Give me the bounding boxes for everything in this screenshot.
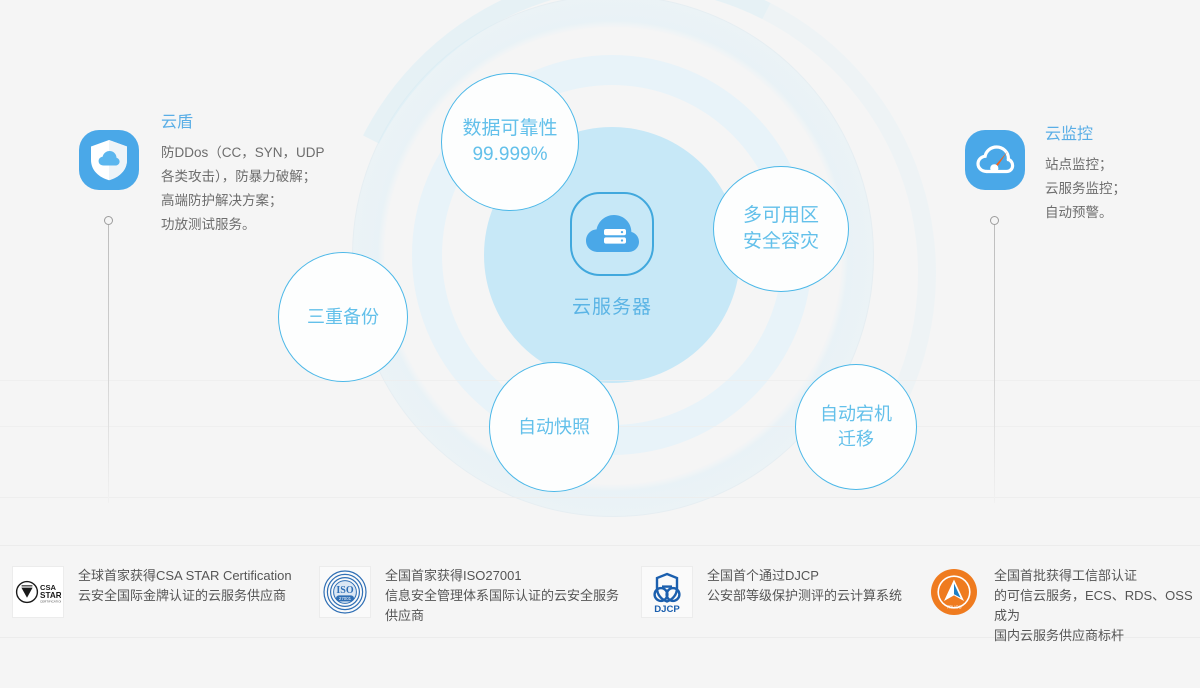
cloud-monitor-text: 云监控 站点监控； 云服务监控； 自动预警。 [1045, 120, 1195, 225]
bubble-migrate-line2: 迁移 [820, 427, 892, 452]
cloud-server-icon [570, 192, 654, 276]
bubble-snapshot[interactable]: 自动快照 [489, 362, 619, 492]
certification-item[interactable]: CSA STAR CERTIFICATION 全球首家获得CSA STAR Ce… [12, 566, 312, 618]
cert-4-line-1: 全国首批获得工信部认证 [994, 566, 1198, 586]
bubble-reliability-line2: 99.999% [462, 142, 557, 168]
certification-item[interactable]: ISO 27001 全国首家获得ISO27001 信息安全管理体系国际认证的云安… [319, 566, 629, 626]
bubble-snapshot-line1: 自动快照 [518, 417, 590, 437]
cloud-shield-icon [79, 130, 139, 190]
csa-star-logo-icon: CSA STAR CERTIFICATION [12, 566, 64, 618]
certification-text: 全国首批获得工信部认证 的可信云服务，ECS、RDS、OSS成为 国内云服务供应… [994, 566, 1198, 647]
svg-text:27001: 27001 [339, 596, 352, 601]
cert-2-line-3: 供应商 [385, 606, 619, 626]
djcp-logo-icon: DJCP [641, 566, 693, 618]
cloud-monitor-block[interactable] [965, 130, 1025, 190]
svg-text:TRUCS: TRUCS [946, 604, 961, 609]
cloud-monitor-icon [965, 130, 1025, 190]
bubble-multizone-line2: 安全容灾 [743, 229, 819, 255]
cloud-shield-line-3: 高端防护解决方案； [161, 189, 391, 213]
bubble-multizone-line1: 多可用区 [743, 205, 819, 226]
iso-27001-logo-icon: ISO 27001 [319, 566, 371, 618]
bubble-backup[interactable]: 三重备份 [278, 252, 408, 382]
cert-4-line-2: 的可信云服务，ECS、RDS、OSS成为 [994, 586, 1198, 626]
guide-line-c [0, 497, 1200, 498]
cloud-shield-block[interactable] [79, 130, 139, 190]
certification-text: 全球首家获得CSA STAR Certification 云安全国际金牌认证的云… [78, 566, 292, 606]
connector-line-right [994, 225, 995, 503]
connector-dot-left [104, 216, 113, 225]
cloud-monitor-line-1: 站点监控； [1045, 153, 1195, 177]
cloud-shield-title: 云盾 [161, 108, 391, 132]
connector-line-left [108, 225, 109, 503]
bubble-reliability[interactable]: 数据可靠性 99.999% [441, 73, 579, 211]
cloud-monitor-title: 云监控 [1045, 120, 1195, 144]
cert-2-line-1: 全国首家获得ISO27001 [385, 566, 619, 586]
connector-dot-right [990, 216, 999, 225]
cloud-shield-line-2: 各类攻击），防暴力破解； [161, 165, 391, 189]
bubble-migrate[interactable]: 自动宕机 迁移 [795, 364, 917, 490]
cert-3-line-1: 全国首个通过DJCP [707, 566, 902, 586]
certification-strip: CSA STAR CERTIFICATION 全球首家获得CSA STAR Ce… [0, 540, 1200, 640]
bubble-multizone[interactable]: 多可用区 安全容灾 [713, 166, 849, 292]
cert-4-line-3: 国内云服务供应商标杆 [994, 626, 1198, 646]
cloud-monitor-body: 站点监控； 云服务监控； 自动预警。 [1045, 153, 1195, 225]
trucs-logo-icon: TRUCS [928, 566, 980, 618]
cloud-shield-text: 云盾 防DDos（CC，SYN，UDP 各类攻击），防暴力破解； 高端防护解决方… [161, 108, 391, 237]
cert-3-line-2: 公安部等级保护测评的云计算系统 [707, 586, 902, 606]
svg-text:DJCP: DJCP [654, 604, 680, 614]
bubble-reliability-line1: 数据可靠性 [462, 118, 557, 139]
svg-text:ISO: ISO [336, 585, 353, 596]
cloud-shield-body: 防DDos（CC，SYN，UDP 各类攻击），防暴力破解； 高端防护解决方案； … [161, 141, 391, 237]
cert-1-line-2: 云安全国际金牌认证的云服务供应商 [78, 586, 292, 606]
svg-text:CERTIFICATION: CERTIFICATION [40, 600, 61, 604]
cert-1-line-1: 全球首家获得CSA STAR Certification [78, 566, 292, 586]
cloud-shield-line-1: 防DDos（CC，SYN，UDP [161, 141, 391, 165]
infographic-canvas: 云服务器 数据可靠性 99.999% 多可用区 安全容灾 三重备份 自动快照 自… [0, 0, 1200, 688]
cloud-monitor-line-3: 自动预警。 [1045, 201, 1195, 225]
cloud-monitor-line-2: 云服务监控； [1045, 177, 1195, 201]
bubble-backup-line1: 三重备份 [307, 307, 379, 327]
cert-2-line-2: 信息安全管理体系国际认证的云安全服务 [385, 586, 619, 606]
cloud-shield-line-4: 功放测试服务。 [161, 213, 391, 237]
certification-item[interactable]: DJCP 全国首个通过DJCP 公安部等级保护测评的云计算系统 [641, 566, 931, 618]
certification-text: 全国首家获得ISO27001 信息安全管理体系国际认证的云安全服务 供应商 [385, 566, 619, 626]
certification-item[interactable]: TRUCS 全国首批获得工信部认证 的可信云服务，ECS、RDS、OSS成为 国… [928, 566, 1198, 647]
certification-text: 全国首个通过DJCP 公安部等级保护测评的云计算系统 [707, 566, 902, 606]
bubble-migrate-line1: 自动宕机 [820, 404, 892, 424]
center-label: 云服务器 [572, 292, 652, 319]
